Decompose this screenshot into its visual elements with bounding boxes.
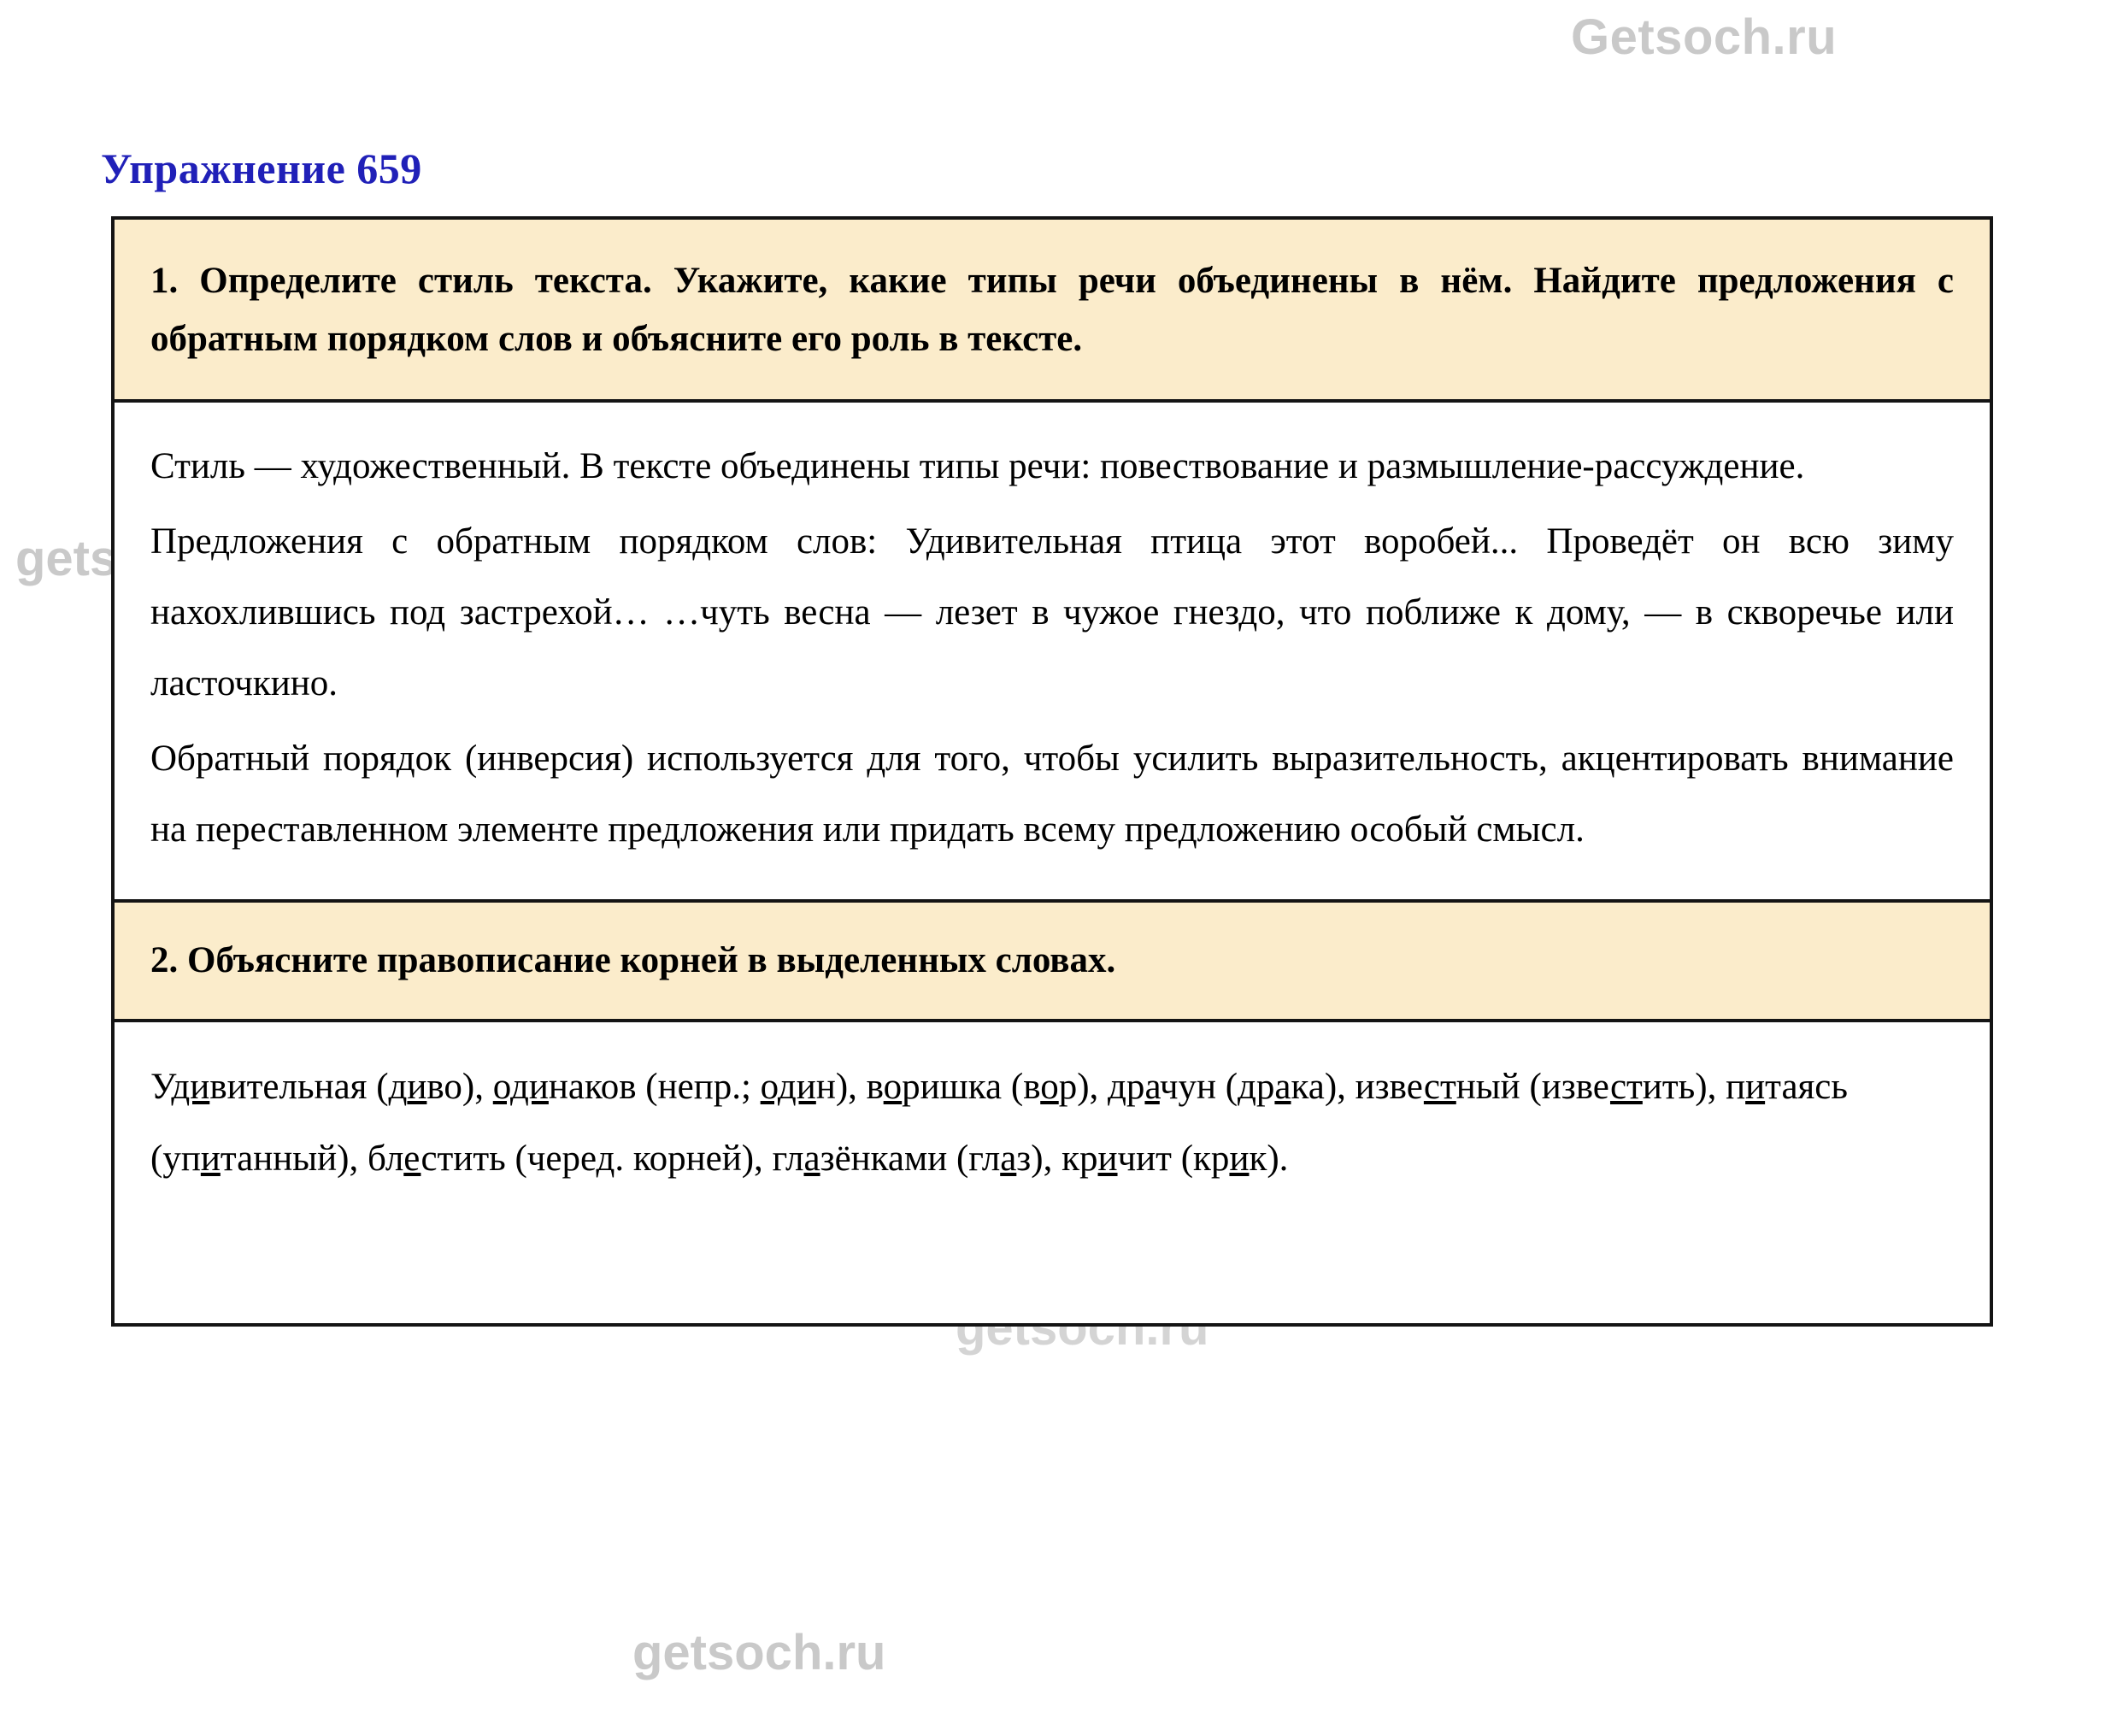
word-part: зёнками — [820, 1139, 948, 1179]
watermark-top-right: Getsoch.ru — [1571, 9, 1837, 66]
check-word-part: (непр.; — [637, 1067, 761, 1107]
word-part: таясь — [1765, 1067, 1848, 1107]
underlined-root: и — [201, 1139, 221, 1179]
answer-paragraph: Предложения с обратным порядком слов: Уд… — [150, 507, 1954, 719]
word-part: чит — [1118, 1139, 1172, 1179]
underlined-root: и — [407, 1067, 426, 1107]
word-part: ный — [1456, 1067, 1520, 1107]
check-word-part: танный), — [221, 1139, 368, 1179]
underlined-root: о — [884, 1067, 903, 1107]
check-word-part: ить), — [1643, 1067, 1726, 1107]
root-spelling-list: Удивительная (диво), одинаков (непр.; од… — [150, 1051, 1954, 1195]
task-2-prompt: 2. Объясните правописание корней в выдел… — [115, 899, 1990, 1022]
watermark-bottom: getsoch.ru — [632, 1624, 886, 1681]
underlined-root: оди — [493, 1067, 549, 1107]
check-word-part: ка), — [1291, 1067, 1356, 1107]
word-part: др — [1108, 1067, 1144, 1107]
word-part: вительная — [209, 1067, 367, 1107]
underlined-root: а — [1000, 1139, 1016, 1179]
check-word-part: (в — [1002, 1067, 1040, 1107]
task-1-prompt: 1. Определите стиль текста. Укажите, как… — [115, 220, 1990, 403]
word-part: ришка — [902, 1067, 1002, 1107]
check-word-part: к). — [1249, 1139, 1288, 1179]
check-word-part: р), — [1059, 1067, 1108, 1107]
check-word-part: (д — [367, 1067, 407, 1107]
underlined-root: а — [1274, 1067, 1291, 1107]
underlined-root: а — [1144, 1067, 1159, 1107]
check-word-part: з), — [1016, 1139, 1061, 1179]
word-part: бл — [368, 1139, 403, 1179]
underlined-root: е — [403, 1139, 420, 1179]
task-2-answer: Удивительная (диво), одинаков (непр.; од… — [115, 1022, 1990, 1323]
underlined-root: и — [1745, 1067, 1765, 1107]
underlined-root: а — [803, 1139, 820, 1179]
word-part: изве — [1356, 1067, 1424, 1107]
underlined-root: ст — [1424, 1067, 1456, 1107]
word-part: кр — [1061, 1139, 1097, 1179]
answer-paragraph: Обратный порядок (инверсия) используется… — [150, 724, 1954, 865]
word-part: стить — [420, 1139, 505, 1179]
answer-paragraph: Стиль — художественный. В тексте объедин… — [150, 432, 1954, 503]
underlined-root: о — [1040, 1067, 1059, 1107]
word-part: п — [1726, 1067, 1745, 1107]
word-part: У — [150, 1067, 171, 1107]
underlined-root: и — [1229, 1139, 1249, 1179]
check-word-part: (гл — [947, 1139, 1000, 1179]
word-part: наков — [549, 1067, 637, 1107]
word-part: чун — [1160, 1067, 1216, 1107]
check-word-part: во), — [426, 1067, 492, 1107]
word-part: в — [867, 1067, 884, 1107]
exercise-box: 1. Определите стиль текста. Укажите, как… — [111, 216, 1993, 1327]
check-word-part: (изве — [1520, 1067, 1610, 1107]
check-word-part: н), — [816, 1067, 867, 1107]
word-part: гл — [773, 1139, 804, 1179]
check-word-part: (др — [1216, 1067, 1274, 1107]
underlined-root: ст — [1610, 1067, 1643, 1107]
page-title: Упражнение 659 — [101, 144, 422, 193]
task-1-answer: Стиль — художественный. В тексте объедин… — [115, 403, 1990, 899]
underlined-root: ди — [171, 1067, 209, 1107]
check-word-part: (кр — [1172, 1139, 1229, 1179]
check-word-part: (черед. корней), — [506, 1139, 773, 1179]
check-word-part: (уп — [150, 1139, 201, 1179]
underlined-root: и — [1098, 1139, 1118, 1179]
underlined-root: оди — [761, 1067, 816, 1107]
